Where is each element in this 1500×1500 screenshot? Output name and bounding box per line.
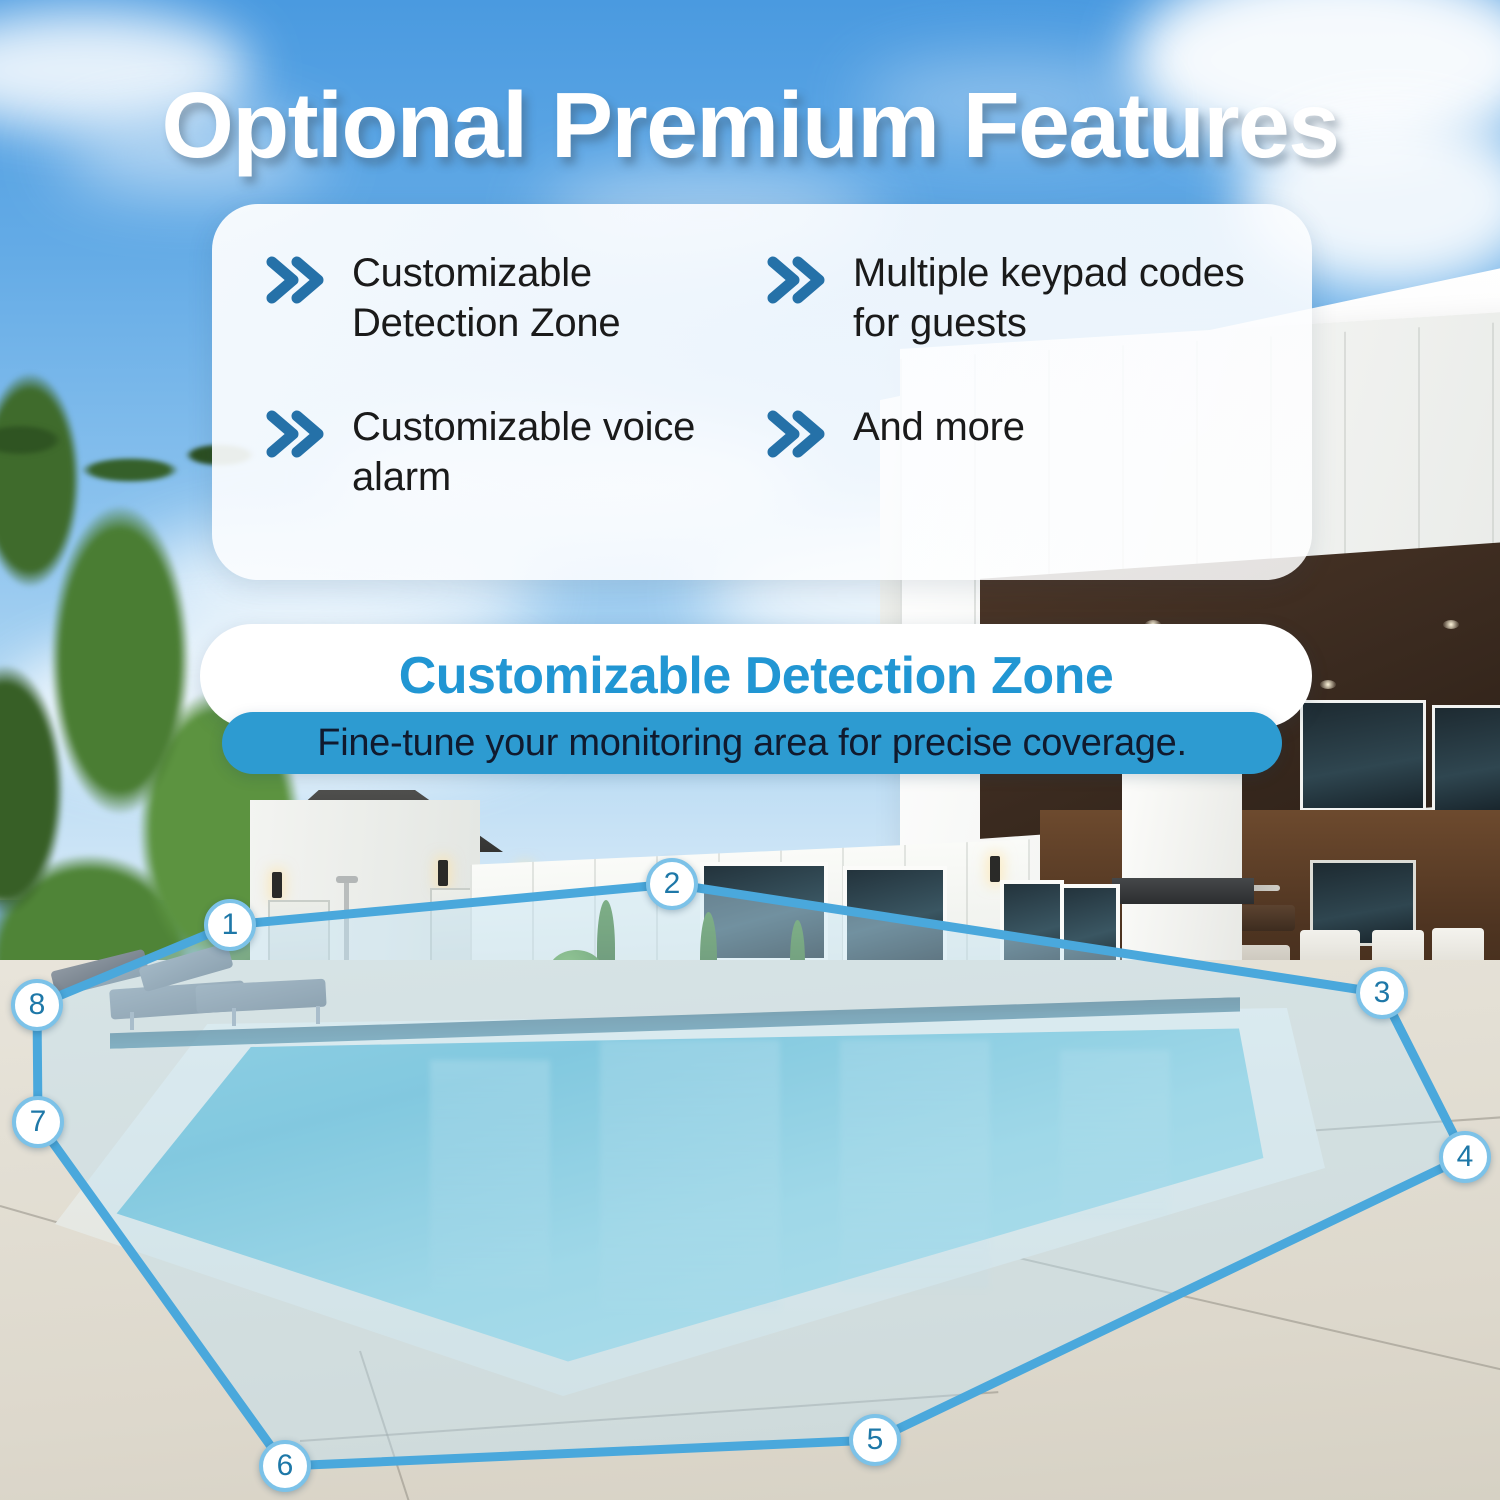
detection-zone-polygon[interactable] xyxy=(37,884,1465,1466)
feature-item-voice-alarm: Customizable voice alarm xyxy=(264,394,765,503)
zone-marker-5[interactable]: 5 xyxy=(849,1414,901,1466)
double-chevron-right-icon xyxy=(264,252,326,313)
zone-marker-8[interactable]: 8 xyxy=(11,979,63,1031)
zone-marker-1[interactable]: 1 xyxy=(204,899,256,951)
double-chevron-right-icon xyxy=(765,252,827,313)
zone-heading: Customizable Detection Zone xyxy=(399,646,1114,706)
feature-label: Multiple keypad codes for guests xyxy=(853,248,1266,349)
zone-marker-3[interactable]: 3 xyxy=(1356,967,1408,1019)
zone-subheading-pill: Fine-tune your monitoring area for preci… xyxy=(222,712,1282,774)
feature-label: And more xyxy=(853,402,1025,452)
double-chevron-right-icon xyxy=(765,406,827,467)
feature-label: Customizable voice alarm xyxy=(352,402,765,503)
feature-item-and-more: And more xyxy=(765,394,1266,467)
zone-subheading: Fine-tune your monitoring area for preci… xyxy=(317,722,1186,765)
marketing-image: 12345678 Optional Premium Features Custo… xyxy=(0,0,1500,1500)
page-title: Optional Premium Features xyxy=(0,72,1500,179)
zone-marker-2[interactable]: 2 xyxy=(646,858,698,910)
feature-label: Customizable Detection Zone xyxy=(352,248,765,349)
feature-item-detection-zone: Customizable Detection Zone xyxy=(264,248,765,349)
zone-marker-6[interactable]: 6 xyxy=(259,1440,311,1492)
zone-marker-4[interactable]: 4 xyxy=(1439,1131,1491,1183)
zone-marker-7[interactable]: 7 xyxy=(12,1096,64,1148)
double-chevron-right-icon xyxy=(264,406,326,467)
feature-item-keypad-codes: Multiple keypad codes for guests xyxy=(765,248,1266,349)
premium-features-card: Customizable Detection Zone Multiple key… xyxy=(212,204,1312,580)
